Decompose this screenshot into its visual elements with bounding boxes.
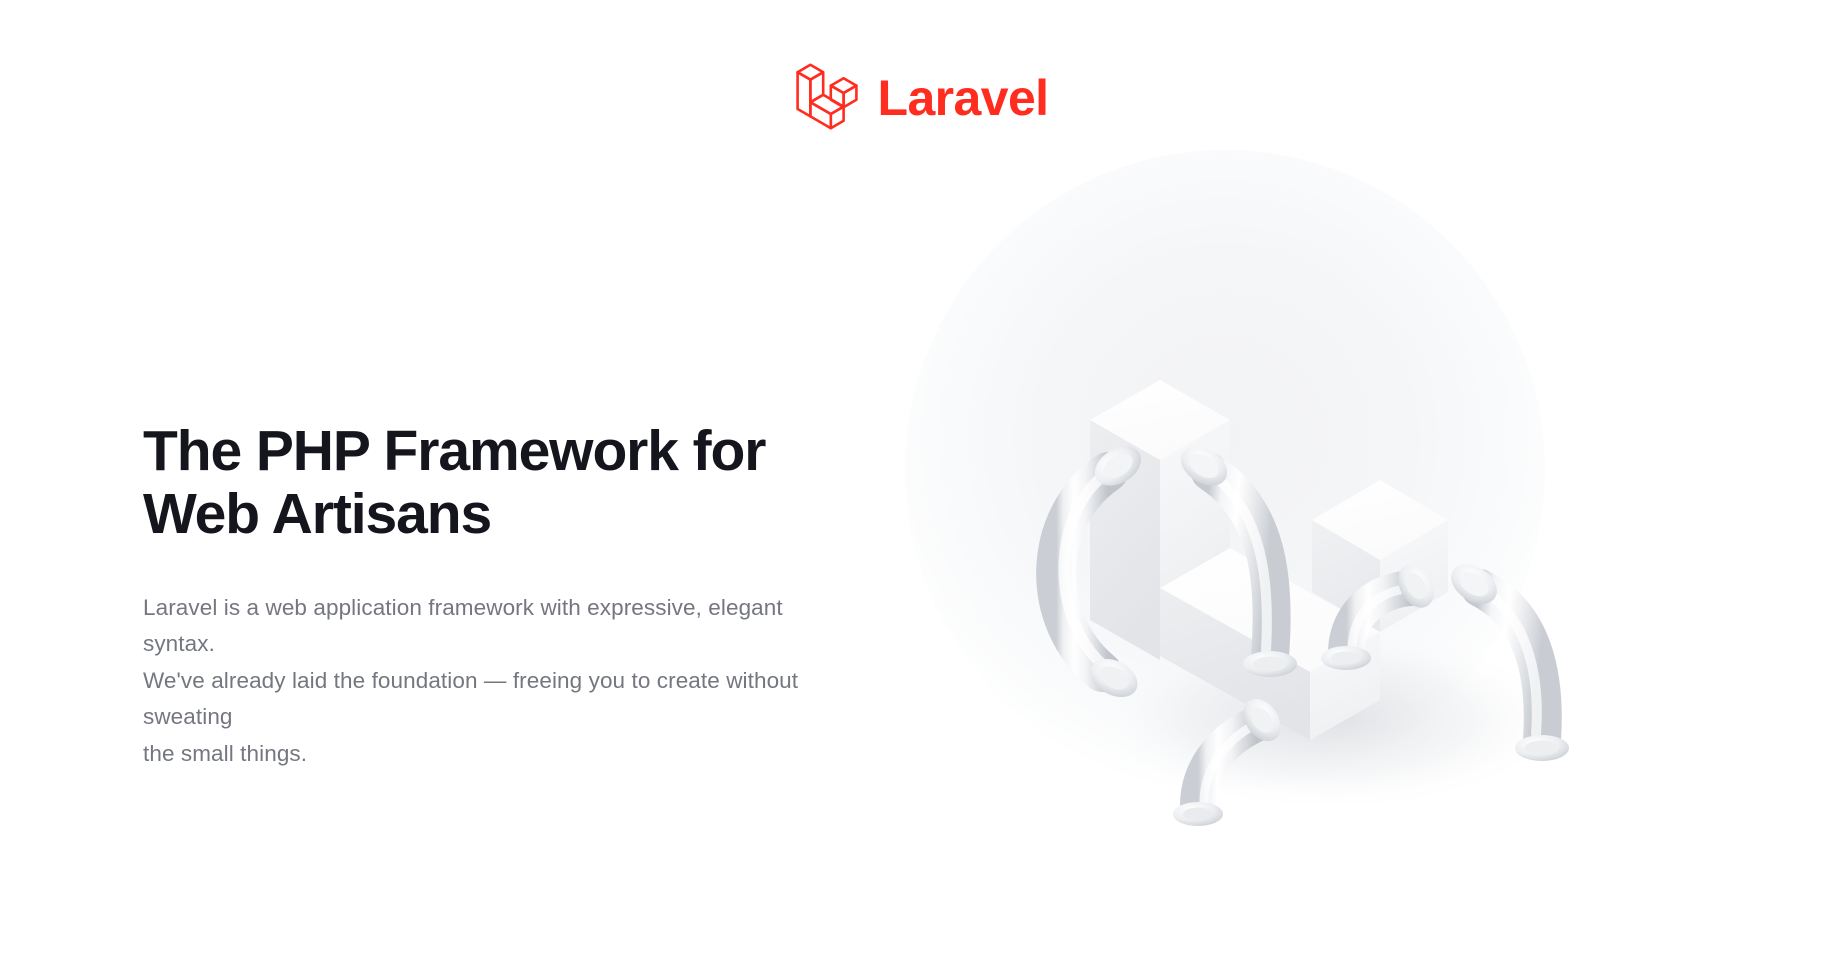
laravel-isometric-glass-pipes-render — [1080, 320, 1600, 840]
page-title: The PHP Framework for Web Artisans — [143, 420, 973, 546]
hero-copy: The PHP Framework for Web Artisans Larav… — [143, 420, 973, 772]
hero-illustration — [1080, 320, 1600, 840]
laravel-landing-page: Laravel The PHP Framework for Web Artisa… — [0, 0, 1844, 953]
hero-subtitle: Laravel is a web application framework w… — [143, 590, 843, 772]
laravel-wordmark: Laravel — [878, 73, 1049, 123]
masthead: Laravel — [0, 58, 1844, 136]
laravel-logomark-icon[interactable] — [796, 58, 858, 136]
